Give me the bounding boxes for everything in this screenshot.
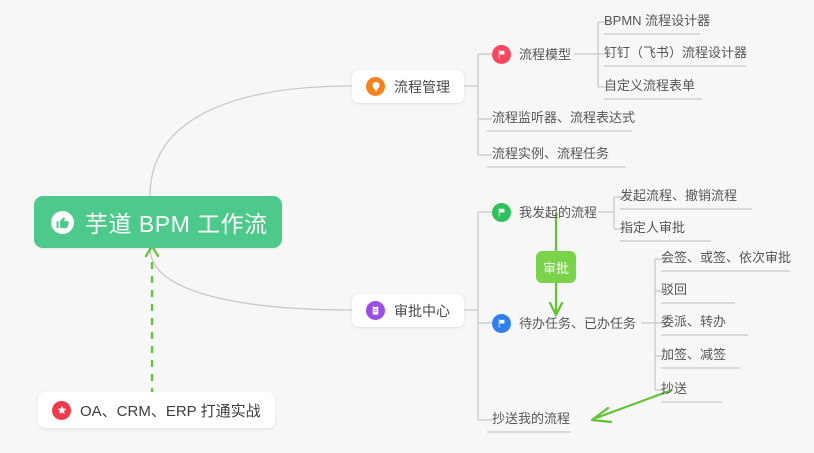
clipboard-icon [366,301,385,320]
node-oa-crm-erp-label: OA、CRM、ERP 打通实战 [80,400,261,421]
node-process-instance-task[interactable]: 流程实例、流程任务 [492,147,609,160]
node-todo-done-task[interactable]: 待办任务、已办任务 [492,314,636,333]
node-cc-to-me-process-label: 抄送我的流程 [492,412,570,425]
node-assignee-approval-label: 指定人审批 [620,221,685,234]
node-process-instance-task-label: 流程实例、流程任务 [492,147,609,160]
node-cc-label: 抄送 [661,382,687,395]
node-bpmn-designer[interactable]: BPMN 流程设计器 [604,14,710,27]
node-todo-done-task-label: 待办任务、已办任务 [519,317,636,330]
node-my-started-process-label: 我发起的流程 [519,206,597,219]
node-add-remove-sign[interactable]: 加签、减签 [661,348,726,361]
mindmap-canvas: 芋道 BPM 工作流 流程管理 流程模型 BPMN 流程设计器 钉钉（飞书）流程… [0,0,814,453]
node-countersign-or-sequential[interactable]: 会签、或签、依次审批 [661,251,791,264]
root-label: 芋道 BPM 工作流 [85,205,268,239]
node-approval-center-label: 审批中心 [394,301,450,321]
node-reject[interactable]: 驳回 [661,283,687,296]
node-add-remove-sign-label: 加签、减签 [661,348,726,361]
node-process-model-label: 流程模型 [519,48,571,61]
flag-icon-blue [492,314,511,333]
node-custom-process-form[interactable]: 自定义流程表单 [604,79,695,92]
node-bpmn-designer-label: BPMN 流程设计器 [604,14,710,27]
node-start-cancel-process-label: 发起流程、撤销流程 [620,189,737,202]
annotation-cc-arrow [592,390,672,422]
node-process-model[interactable]: 流程模型 [492,45,571,64]
node-process-listener-expression-label: 流程监听器、流程表达式 [492,111,635,124]
node-process-listener-expression[interactable]: 流程监听器、流程表达式 [492,111,635,124]
link-root-to-process-management [150,86,352,196]
node-my-started-process[interactable]: 我发起的流程 [492,203,597,222]
node-process-management-label: 流程管理 [394,77,450,97]
flow-box-approval[interactable]: 审批 [536,251,576,283]
node-assignee-approval[interactable]: 指定人审批 [620,221,685,234]
flow-box-approval-label: 审批 [543,258,569,277]
node-start-cancel-process[interactable]: 发起流程、撤销流程 [620,189,737,202]
star-icon [52,401,71,420]
node-delegate-transfer-label: 委派、转办 [661,315,726,328]
link-root-to-approval-center [150,248,352,310]
node-delegate-transfer[interactable]: 委派、转办 [661,315,726,328]
node-approval-center[interactable]: 审批中心 [352,294,464,327]
node-cc[interactable]: 抄送 [661,382,687,395]
node-cc-to-me-process[interactable]: 抄送我的流程 [492,412,570,425]
node-process-management[interactable]: 流程管理 [352,70,464,103]
thumbs-up-icon [51,211,74,234]
node-dingtalk-feishu-designer-label: 钉钉（飞书）流程设计器 [604,46,747,59]
node-custom-process-form-label: 自定义流程表单 [604,79,695,92]
flag-icon-red [492,45,511,64]
annotation-dashed-arrow [146,246,158,395]
lightbulb-icon [366,77,385,96]
node-reject-label: 驳回 [661,283,687,296]
node-oa-crm-erp[interactable]: OA、CRM、ERP 打通实战 [38,392,275,428]
node-dingtalk-feishu-designer[interactable]: 钉钉（飞书）流程设计器 [604,46,747,59]
node-countersign-or-sequential-label: 会签、或签、依次审批 [661,251,791,264]
root-node[interactable]: 芋道 BPM 工作流 [34,196,282,248]
flag-icon-green [492,203,511,222]
